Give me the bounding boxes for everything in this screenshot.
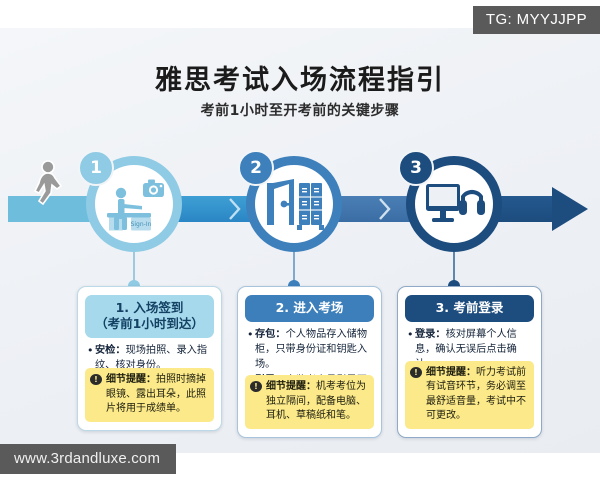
step-card-3[interactable]: 3. 考前登录 • 登录：核对屏幕个人信息，确认无误后点击确认。 • 试音：戴上… — [397, 286, 542, 438]
step-badge-2: 2 — [238, 150, 274, 186]
step-card-2-tip: ! 细节提醒：机考考位为独立隔间，配备电脑、耳机、草稿纸和笔。 — [245, 375, 374, 429]
tip-label: 细节提醒： — [106, 374, 156, 385]
step-card-3-header: 3. 考前登录 — [405, 295, 534, 322]
step-card-2[interactable]: 2. 进入考场 • 存包：个人物品存入储物柜，只带身份证和钥匙入场。 • 引导：… — [237, 286, 382, 438]
step-card-1-title: 1. 入场签到 — [89, 300, 210, 316]
sign-in-desk-label: Sign-In — [131, 221, 152, 228]
bullet-label: 安检： — [95, 345, 126, 356]
step-card-3-title: 3. 考前登录 — [409, 300, 530, 316]
walking-person-icon — [26, 160, 70, 206]
bullet-dot-icon: • — [247, 328, 255, 372]
warning-icon: ! — [250, 381, 262, 392]
flow-node-1[interactable]: Sign-In 1 — [86, 156, 182, 252]
chevron-right-icon — [378, 197, 392, 221]
warning-icon: ! — [410, 367, 422, 378]
step-card-1[interactable]: 1. 入场签到 （考前1小时到达） • 安检：现场拍照、录入指纹、核对身份。 !… — [77, 286, 222, 431]
step-badge-3: 3 — [398, 150, 434, 186]
tg-watermark-tag: TG: MYYJJPP — [473, 6, 600, 34]
page-subtitle: 考前1小时至开考前的关键步骤 — [0, 100, 600, 120]
warning-icon: ! — [90, 374, 102, 385]
bullet-label: 登录： — [415, 329, 446, 340]
tip-label: 细节提醒： — [266, 381, 316, 392]
infographic-root: TG: MYYJJPP www.3rdandluxe.com 雅思考试入场流程指… — [0, 0, 600, 480]
tip-label: 细节提醒： — [426, 367, 476, 378]
step-card-2-title: 2. 进入考场 — [249, 300, 370, 316]
step-badge-1: 1 — [78, 150, 114, 186]
step-card-1-tip: ! 细节提醒：拍照时摘掉眼镜、露出耳朵，此照片将用于成绩单。 — [85, 368, 214, 422]
page-title: 雅思考试入场流程指引 — [0, 58, 600, 97]
arrow-right-icon — [552, 187, 588, 231]
flow-node-3[interactable]: 3 — [406, 156, 502, 252]
step-card-1-subtitle: （考前1小时到达） — [89, 316, 210, 332]
step-card-2-header: 2. 进入考场 — [245, 295, 374, 322]
bullet-label: 存包： — [255, 329, 286, 340]
list-item: • 存包：个人物品存入储物柜，只带身份证和钥匙入场。 — [247, 328, 372, 372]
site-watermark: www.3rdandluxe.com — [0, 444, 176, 474]
step-card-1-header: 1. 入场签到 （考前1小时到达） — [85, 295, 214, 338]
chevron-right-icon — [228, 197, 242, 221]
step-card-3-tip: ! 细节提醒：听力考试前有试音环节，务必调至最舒适音量，考试中不可更改。 — [405, 361, 534, 429]
flow-node-2[interactable]: 2 — [246, 156, 342, 252]
